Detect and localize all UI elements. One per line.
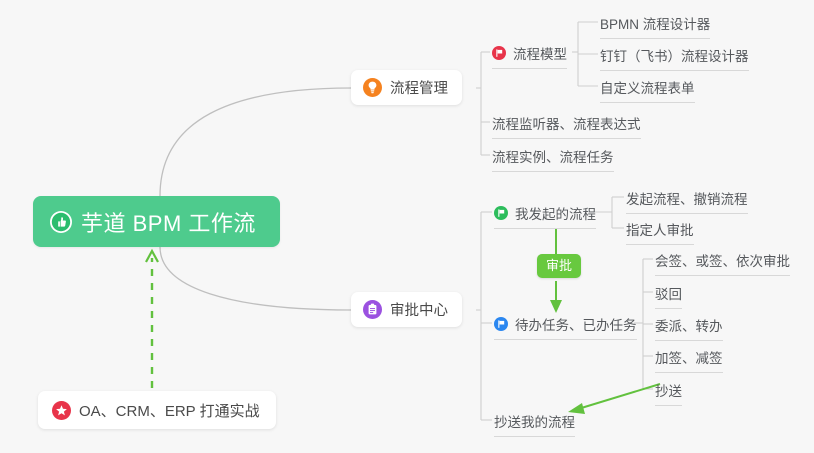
- green-flag-icon: [494, 206, 508, 220]
- root-node-label: 芋道 BPM 工作流: [81, 206, 256, 238]
- item-dingtalk-feishu-designer[interactable]: 钉钉（飞书）流程设计器: [600, 45, 749, 71]
- item-designated-approver[interactable]: 指定人审批: [626, 219, 694, 245]
- red-star-icon: [52, 401, 71, 420]
- branch-process-management-label: 流程管理: [390, 77, 448, 98]
- item-delegate-transfer[interactable]: 委派、转办: [655, 315, 723, 341]
- item-delegate-transfer-label: 委派、转办: [655, 315, 723, 335]
- root-node[interactable]: 芋道 BPM 工作流: [33, 196, 280, 247]
- item-countersign-orsign-sequential[interactable]: 会签、或签、依次审批: [655, 250, 790, 276]
- item-process-model-label: 流程模型: [513, 43, 567, 63]
- item-process-model[interactable]: 流程模型: [492, 43, 567, 69]
- item-process-listener-expression-label: 流程监听器、流程表达式: [492, 113, 641, 133]
- item-cc-to-me-processes[interactable]: 抄送我的流程: [494, 411, 575, 437]
- item-todo-done-tasks[interactable]: 待办任务、已办任务: [494, 314, 637, 340]
- branch-approval-center-label: 审批中心: [390, 299, 448, 320]
- item-bpmn-designer-label: BPMN 流程设计器: [600, 13, 710, 33]
- approval-badge: 审批: [537, 254, 581, 278]
- item-add-remove-signer[interactable]: 加签、减签: [655, 347, 723, 373]
- blue-flag-icon: [494, 317, 508, 331]
- item-reject-label: 驳回: [655, 283, 682, 303]
- item-todo-done-tasks-label: 待办任务、已办任务: [515, 314, 637, 334]
- item-cc-label: 抄送: [655, 380, 682, 400]
- node-integration-practice[interactable]: OA、CRM、ERP 打通实战: [38, 391, 276, 429]
- item-bpmn-designer[interactable]: BPMN 流程设计器: [600, 13, 710, 39]
- item-process-instance-task-label: 流程实例、流程任务: [492, 146, 614, 166]
- item-countersign-orsign-sequential-label: 会签、或签、依次审批: [655, 250, 790, 270]
- item-reject[interactable]: 驳回: [655, 283, 682, 309]
- branch-approval-center[interactable]: 审批中心: [351, 292, 462, 327]
- item-add-remove-signer-label: 加签、减签: [655, 347, 723, 367]
- item-process-listener-expression[interactable]: 流程监听器、流程表达式: [492, 113, 641, 139]
- approval-badge-label: 审批: [546, 258, 572, 273]
- item-dingtalk-feishu-designer-label: 钉钉（飞书）流程设计器: [600, 45, 749, 65]
- item-designated-approver-label: 指定人审批: [626, 219, 694, 239]
- item-my-initiated-processes[interactable]: 我发起的流程: [494, 203, 596, 229]
- item-process-instance-task[interactable]: 流程实例、流程任务: [492, 146, 614, 172]
- mindmap-canvas: 芋道 BPM 工作流 流程管理 流程模型 BPMN 流程设计器 钉钉（飞书: [0, 0, 814, 453]
- branch-process-management[interactable]: 流程管理: [351, 70, 462, 105]
- lightbulb-pin-icon: [363, 78, 382, 97]
- clipboard-icon: [363, 300, 382, 319]
- item-custom-process-form-label: 自定义流程表单: [600, 77, 695, 97]
- item-cc[interactable]: 抄送: [655, 380, 682, 406]
- item-start-cancel-process[interactable]: 发起流程、撤销流程: [626, 188, 748, 214]
- item-start-cancel-process-label: 发起流程、撤销流程: [626, 188, 748, 208]
- red-flag-icon: [492, 46, 506, 60]
- item-my-initiated-processes-label: 我发起的流程: [515, 203, 596, 223]
- thumbs-up-icon: [50, 211, 72, 233]
- item-custom-process-form[interactable]: 自定义流程表单: [600, 77, 695, 103]
- item-cc-to-me-processes-label: 抄送我的流程: [494, 411, 575, 431]
- node-integration-practice-label: OA、CRM、ERP 打通实战: [79, 400, 260, 421]
